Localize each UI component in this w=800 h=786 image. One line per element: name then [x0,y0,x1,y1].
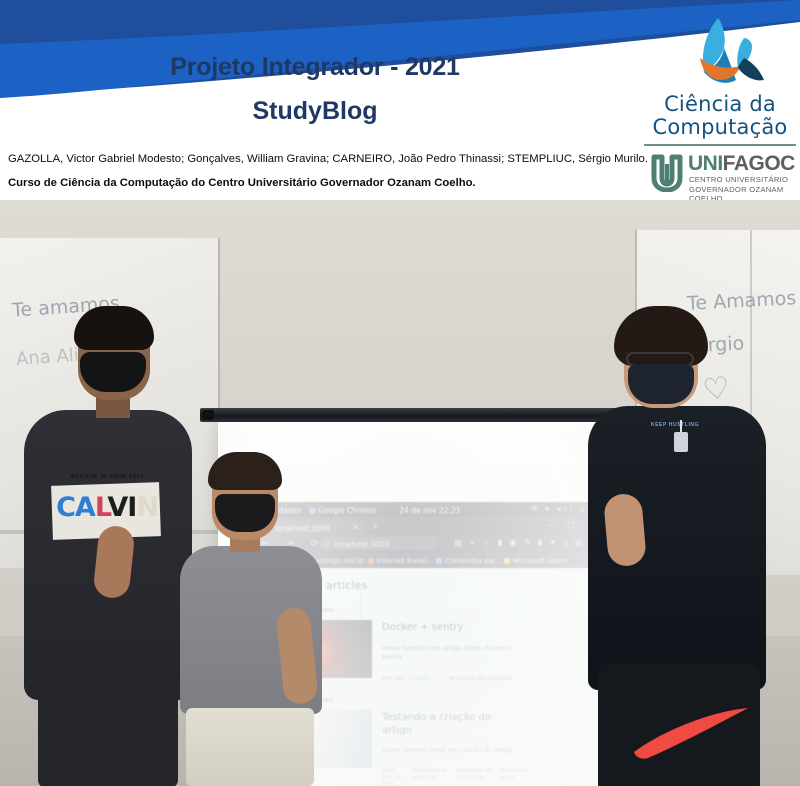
article-title: Testando a criação do artigo [382,712,522,737]
bookmark-label: Internet Banki... [377,557,433,565]
person-right: KEEP HUSTLING [588,316,770,786]
bookmark-item-comandos[interactable]: Comandos par... [436,557,502,565]
page-title: Projeto Integrador - 2021 [0,52,630,82]
article-meta: Mon Nov 22 2021#Camada de aplicação [382,676,512,682]
id-badge [674,432,688,452]
shirt-brand-seg-1: CA [56,492,95,523]
presentation-photo: Te amamos Ana Aline Te Amamos Sergio ♡ B… [0,200,800,786]
shirt-brand-seg-2: L [95,492,108,523]
logo-divider [644,144,796,146]
article-excerpt: Outro simples teste de criação de artigo [382,746,532,755]
person-left-legs [38,684,178,786]
shirt-brand-seg-4: N [136,492,158,523]
shirt-slogan-text: BELIEVE IN YOUR SELF [60,474,156,480]
new-tab-button[interactable]: + [372,522,379,531]
article-tag[interactable]: #Camada física [500,768,540,782]
shirt-brand-text: CALVIN [52,494,162,521]
doc-icon [436,558,442,564]
bookmark-item-internet-banking[interactable]: Internet Banki... [368,557,433,565]
close-icon[interactable]: ✕ [352,523,359,532]
institution-logo: Ciência da Computação UNIFAGOC CENTRO UN… [642,16,798,196]
logo-line-1: Ciência da [642,92,798,116]
person-left-face-mask [80,352,146,392]
unifagoc-wordmark: UNIFAGOC [688,152,795,176]
article-tag[interactable]: #Camada de aplicação [412,768,452,782]
poster-root: Projeto Integrador - 2021 StudyBlog GAZO… [0,0,800,786]
swoosh-icon [632,708,752,760]
article-title: Docker + sentry [382,622,522,635]
hoodie-text: KEEP HUSTLING [632,422,718,428]
person-middle-hair [208,452,282,490]
page-subtitle: StudyBlog [0,96,630,126]
article-tag[interactable]: #Camada de transporte [456,768,496,782]
unifagoc-subtitle-2: GOVERNADOR OZANAM COELHO [689,185,798,200]
bookmark-label: Microsoft Azure [513,557,567,565]
unifagoc-word-uni: UNI [688,152,723,175]
person-middle-shorts [186,708,314,786]
title-block: Projeto Integrador - 2021 StudyBlog [0,52,630,126]
article-date: Mon Nov 22 2021 [382,676,431,682]
projector-screen-roller [200,408,640,422]
unifagoc-subtitle-1: CENTRO UNIVERSITÁRIO [689,175,788,184]
bookmark-item-azure[interactable]: Microsoft Azure [504,557,567,565]
bank-icon [368,558,374,564]
unifagoc-u-icon [650,154,684,192]
article-date: Wed Nov 24 2021 [382,768,406,786]
toolbar-extension-icons[interactable]: ▤ ➢ ☆ ▮ ◉ ✎ ◖ ✦ ▯ ◍ ⋮ [454,538,600,547]
person-left-hair [74,306,154,350]
authors-line: GAZOLLA, Victor Gabriel Modesto; Gonçalv… [8,152,608,167]
person-right-face-mask [628,364,694,404]
person-middle-face-mask [215,494,275,532]
unifagoc-word-fagoc: FAGOC [723,152,795,175]
person-middle [176,458,326,786]
shirt-brand-seg-3: VI [107,492,136,523]
poster-header: Projeto Integrador - 2021 StudyBlog GAZO… [0,0,800,200]
article-excerpt: estou fazendo um artigo sobre docker e s… [382,644,532,662]
unifagoc-logo: UNIFAGOC CENTRO UNIVERSITÁRIO GOVERNADOR… [650,152,798,200]
logo-line-2: Computação [642,115,798,139]
person-right-thumbs-up [603,492,647,567]
article-tag[interactable]: #Camada de aplicação [449,676,513,682]
address-bar[interactable]: ⓘ localhost:3000 [318,537,436,550]
cs-department-logo-icon [678,16,774,94]
bookmark-label: Comandos par... [445,557,502,565]
address-bar-url: localhost:3000 [334,540,389,549]
course-line: Curso de Ciência da Computação do Centro… [8,176,608,191]
azure-icon [504,558,510,564]
person-left: BELIEVE IN YOUR SELF CALVIN [8,312,198,786]
